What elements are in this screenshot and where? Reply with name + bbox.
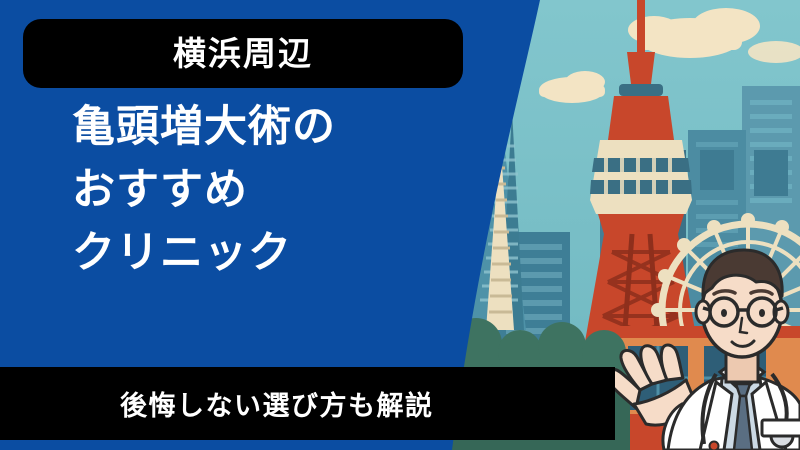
region-badge: 横浜周辺 <box>23 19 463 88</box>
subtitle-banner-label: 後悔しない選び方も解説 <box>120 384 434 423</box>
headline-line-2: おすすめ <box>72 159 472 222</box>
banner-image: 横浜周辺 亀頭増大術の おすすめ クリニック 後悔しない選び方も解説 <box>0 0 800 450</box>
headline-line-1: 亀頭増大術の <box>72 96 472 159</box>
subtitle-banner: 後悔しない選び方も解説 <box>0 367 615 440</box>
headline-line-3: クリニック <box>72 222 472 285</box>
doctor-name-badge <box>762 420 800 436</box>
region-badge-label: 横浜周辺 <box>173 37 313 70</box>
page-title: 亀頭増大術の おすすめ クリニック <box>72 96 472 284</box>
